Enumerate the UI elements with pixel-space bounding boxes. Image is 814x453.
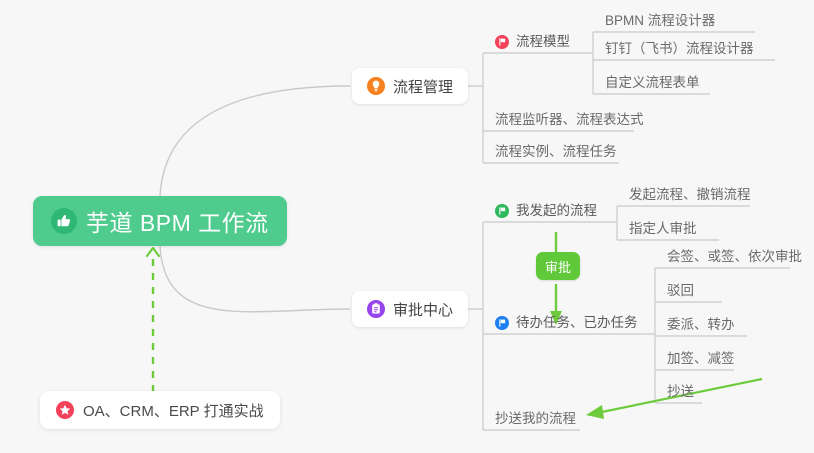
wire-root-to-branch-2: [160, 246, 350, 312]
mindmap-canvas: 芋道 BPM 工作流 流程管理 流程模型 BPMN 流程设计器 钉钉: [0, 0, 814, 453]
topic-jiaqian-jianqian[interactable]: 加签、减签: [661, 350, 741, 372]
topic-chaosong-wodeliucheng[interactable]: 抄送我的流程: [489, 410, 582, 432]
topic-chaosong[interactable]: 抄送: [661, 383, 700, 405]
topic-weipai-zhuanban[interactable]: 委派、转办: [661, 316, 741, 338]
topic-label-weipai-zhuanban: 委派、转办: [667, 316, 735, 334]
arrow-chaosong-to-chaosongwode-head: [586, 405, 604, 419]
topic-label-jiaqian-jianqian: 加签、减签: [667, 350, 735, 368]
topic-daiban-yiban[interactable]: 待办任务、已办任务: [489, 314, 644, 336]
topic-label-dingtalk-designer: 钉钉（飞书）流程设计器: [605, 40, 754, 58]
star-icon: [56, 401, 74, 419]
callout-label-oa-crm-erp: OA、CRM、ERP 打通实战: [83, 400, 264, 421]
topic-label-custom-form: 自定义流程表单: [605, 74, 700, 92]
topic-label-liuchengmoxing: 流程模型: [516, 33, 570, 51]
wire-root-to-branch-1: [160, 86, 350, 196]
topic-label-instance-task: 流程实例、流程任务: [495, 143, 617, 161]
callout-node-oa-crm-erp[interactable]: OA、CRM、ERP 打通实战: [40, 391, 280, 429]
root-node[interactable]: 芋道 BPM 工作流: [33, 196, 287, 246]
topic-liuchengmoxing[interactable]: 流程模型: [489, 33, 576, 55]
branch-label-liuchengguanli: 流程管理: [393, 76, 453, 97]
flag-icon: [495, 35, 509, 49]
arrow-callout-to-root-head: [147, 248, 159, 256]
topic-label-faqi-chexiao: 发起流程、撤销流程: [629, 186, 751, 204]
topic-dingtalk-designer[interactable]: 钉钉（飞书）流程设计器: [599, 40, 760, 62]
flag-icon: [495, 204, 509, 218]
topic-bpmn-designer[interactable]: BPMN 流程设计器: [599, 12, 721, 34]
topic-label-wofaqideliucheng: 我发起的流程: [516, 202, 597, 220]
thumbs-up-icon: [51, 208, 77, 234]
branch-node-shenpizhongxin[interactable]: 审批中心: [352, 291, 468, 327]
topic-wofaqideliucheng[interactable]: 我发起的流程: [489, 202, 603, 224]
topic-label-bohui: 驳回: [667, 282, 694, 300]
tag-label-shenpi: 审批: [545, 257, 571, 276]
topic-instance-task[interactable]: 流程实例、流程任务: [489, 143, 623, 165]
topic-label-daiban-yiban: 待办任务、已办任务: [516, 314, 638, 332]
topic-label-bpmn-designer: BPMN 流程设计器: [605, 12, 715, 30]
topic-label-huiqian-huoqian: 会签、或签、依次审批: [667, 248, 802, 266]
lightbulb-icon: [367, 77, 385, 95]
topic-label-chaosong-wodeliucheng: 抄送我的流程: [495, 410, 576, 428]
topic-label-zhidingren-shenpi: 指定人审批: [629, 220, 697, 238]
topic-zhidingren-shenpi[interactable]: 指定人审批: [623, 220, 703, 242]
topic-huiqian-huoqian[interactable]: 会签、或签、依次审批: [661, 248, 808, 270]
topic-listener-expression[interactable]: 流程监听器、流程表达式: [489, 111, 650, 133]
topic-label-chaosong: 抄送: [667, 383, 694, 401]
clipboard-icon: [367, 300, 385, 318]
flag-icon: [495, 316, 509, 330]
topic-custom-form[interactable]: 自定义流程表单: [599, 74, 706, 96]
topic-label-listener-expression: 流程监听器、流程表达式: [495, 111, 644, 129]
branch-node-liuchengguanli[interactable]: 流程管理: [352, 68, 468, 104]
topic-bohui[interactable]: 驳回: [661, 282, 700, 304]
topic-faqi-chexiao[interactable]: 发起流程、撤销流程: [623, 186, 757, 208]
root-label: 芋道 BPM 工作流: [86, 204, 269, 238]
tag-node-shenpi[interactable]: 审批: [536, 252, 580, 280]
branch-label-shenpizhongxin: 审批中心: [393, 299, 453, 320]
